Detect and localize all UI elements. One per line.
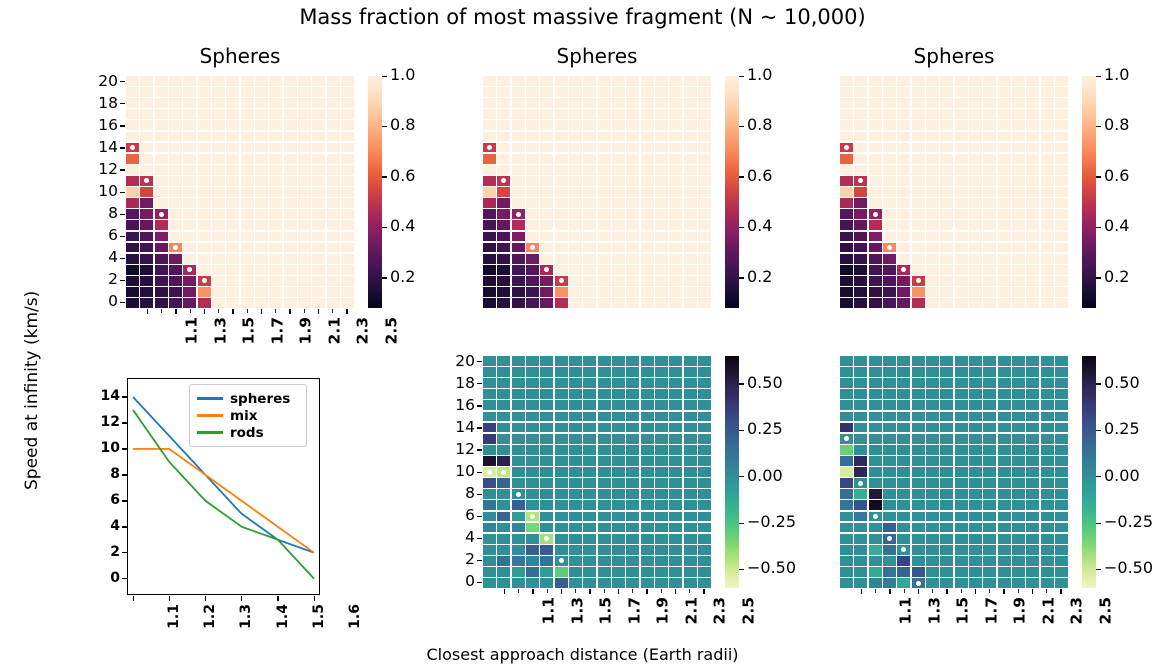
heatmap-cell — [512, 467, 525, 477]
heatmap-cell — [684, 478, 697, 488]
heatmap-cell — [840, 389, 853, 399]
heatmap-cell — [684, 154, 697, 164]
heatmap-cell — [555, 254, 568, 264]
heatmap-cell — [955, 467, 968, 477]
heatmap-cell — [854, 243, 867, 253]
heatmap-cell — [598, 187, 611, 197]
heatmap-cell — [869, 132, 882, 142]
heatmap-cell — [869, 412, 882, 422]
heatmap-cell — [840, 254, 853, 264]
heatmap-cell — [940, 478, 953, 488]
heatmap-cell — [684, 389, 697, 399]
heatmap-cell — [540, 478, 553, 488]
heatmap-cell — [655, 76, 668, 86]
heatmap-cell — [555, 220, 568, 230]
heatmap-cell — [583, 445, 596, 455]
heatmap-cell — [140, 198, 153, 208]
heatmap-cell — [583, 176, 596, 186]
heatmap-cell — [569, 276, 582, 286]
heatmap-cell — [641, 545, 654, 555]
figure-suptitle: Mass fraction of most massive fragment (… — [0, 5, 1165, 29]
colorbar-tick-label: 0.8 — [390, 115, 415, 134]
heatmap-cell — [126, 298, 139, 308]
heatmap-cell — [327, 120, 340, 130]
heatmap-cell — [940, 423, 953, 433]
heatmap-cell — [869, 512, 882, 522]
heatmap-cell — [883, 98, 896, 108]
cell-marker-dot — [487, 470, 492, 475]
heatmap-cell — [897, 276, 910, 286]
heatmap-cell — [497, 165, 510, 175]
heatmap-cell — [1012, 423, 1025, 433]
x-tick-mark-minor — [275, 309, 276, 313]
heatmap-cell — [183, 232, 196, 242]
heatmap-cell — [1055, 243, 1068, 253]
heatmap-cell — [698, 434, 711, 444]
heatmap-cell — [869, 556, 882, 566]
heatmap-cell — [1041, 220, 1054, 230]
heatmap-cell — [669, 567, 682, 577]
heatmap-cell — [226, 132, 239, 142]
heatmap-cell — [540, 367, 553, 377]
x-tick-label: 2.5 — [382, 317, 400, 344]
heatmap-cell — [312, 232, 325, 242]
heatmap-cell — [212, 109, 225, 119]
heatmap-cell — [241, 298, 254, 308]
legend-label: mix — [230, 408, 257, 424]
heatmap-cell — [669, 109, 682, 119]
heatmap-cell — [955, 298, 968, 308]
y-tick-mark — [477, 383, 482, 384]
heatmap-cell — [512, 120, 525, 130]
heatmap-cell — [912, 232, 925, 242]
heatmap-cell — [955, 120, 968, 130]
heatmap-cell — [969, 556, 982, 566]
heatmap-cell — [497, 265, 510, 275]
x-tick-mark — [675, 589, 676, 594]
heatmap-cell — [155, 165, 168, 175]
cell-marker-dot — [844, 145, 849, 150]
heatmap-cell — [1012, 232, 1025, 242]
heatmap-cell — [526, 176, 539, 186]
heatmap-cell — [998, 220, 1011, 230]
heatmap-cell — [840, 467, 853, 477]
y-tick-mark — [477, 494, 482, 495]
heatmap-cell — [255, 265, 268, 275]
heatmap-cell — [1055, 523, 1068, 533]
heatmap-cell — [341, 176, 354, 186]
heatmap-cell — [897, 367, 910, 377]
heatmap-cell — [212, 243, 225, 253]
heatmap-cell — [983, 76, 996, 86]
heatmap-cell — [983, 298, 996, 308]
heatmap-cell — [1012, 534, 1025, 544]
heatmap-cell — [569, 298, 582, 308]
x-tick-mark-minor — [247, 309, 248, 313]
heatmap-cell — [983, 512, 996, 522]
heatmap-cell — [540, 109, 553, 119]
x-tick-label: 2.3 — [711, 597, 729, 624]
heatmap-cell — [284, 220, 297, 230]
heatmap-cell — [569, 545, 582, 555]
heatmap-cell — [298, 76, 311, 86]
heatmap-cell — [698, 512, 711, 522]
heatmap-cell — [698, 109, 711, 119]
heatmap-cell — [655, 356, 668, 366]
heatmap-cell — [1055, 198, 1068, 208]
heatmap-cell — [897, 243, 910, 253]
x-tick-label: 1.9 — [297, 317, 315, 344]
heatmap-cell — [284, 298, 297, 308]
heatmap-cell — [598, 356, 611, 366]
heatmap-cell — [526, 423, 539, 433]
heatmap-cell — [241, 254, 254, 264]
heatmap-cell — [641, 87, 654, 97]
heatmap-cell — [497, 423, 510, 433]
heatmap-cell — [998, 243, 1011, 253]
heatmap-cell — [1041, 98, 1054, 108]
heatmap-cell — [312, 187, 325, 197]
heatmap-cell — [512, 187, 525, 197]
heatmap-cell — [298, 243, 311, 253]
y-tick-label: 6 — [82, 226, 118, 244]
heatmap-cell — [569, 400, 582, 410]
heatmap-cell — [612, 143, 625, 153]
heatmap-cell — [698, 400, 711, 410]
heatmap-cell — [212, 232, 225, 242]
heatmap-cell — [641, 567, 654, 577]
line-y-tick-label: 14 — [87, 388, 120, 404]
heatmap-cell — [155, 254, 168, 264]
heatmap-cell — [1026, 287, 1039, 297]
heatmap-cell — [998, 500, 1011, 510]
heatmap-cell — [684, 578, 697, 588]
cell-marker-dot — [487, 145, 492, 150]
heatmap-cell — [497, 154, 510, 164]
heatmap-cell — [684, 87, 697, 97]
heatmap-cell — [483, 132, 496, 142]
y-tick-label: 10 — [82, 182, 118, 200]
heatmap-cell — [583, 120, 596, 130]
heatmap-cell — [926, 467, 939, 477]
heatmap-cell — [555, 567, 568, 577]
heatmap-cell — [926, 489, 939, 499]
heatmap-cell — [284, 287, 297, 297]
heatmap-cell — [998, 367, 1011, 377]
heatmap-cell — [955, 87, 968, 97]
heatmap-cell — [598, 232, 611, 242]
heatmap-cell — [1055, 187, 1068, 197]
heatmap-cell — [897, 265, 910, 275]
heatmap-cell — [684, 132, 697, 142]
colorbar-tick-mark — [1096, 126, 1101, 127]
heatmap-cell — [241, 220, 254, 230]
heatmap-cell — [1041, 198, 1054, 208]
heatmap-cell — [226, 187, 239, 197]
heatmap-cell — [998, 567, 1011, 577]
x-tick-mark-minor — [604, 589, 605, 593]
heatmap-cell — [327, 143, 340, 153]
heatmap-cell — [569, 220, 582, 230]
cell-marker-dot — [916, 278, 921, 283]
heatmap-cell — [512, 534, 525, 544]
heatmap-cell — [1026, 209, 1039, 219]
heatmap-cell — [598, 143, 611, 153]
y-tick-mark — [477, 560, 482, 561]
heatmap-cell — [569, 412, 582, 422]
heatmap-cell — [854, 154, 867, 164]
heatmap-cell — [1012, 434, 1025, 444]
heatmap-cell — [626, 445, 639, 455]
heatmap-cell — [212, 198, 225, 208]
heatmap-cell — [940, 120, 953, 130]
colorbar-tick-mark — [739, 476, 744, 477]
heatmap-cell — [1055, 132, 1068, 142]
heatmap-cell — [684, 143, 697, 153]
heatmap-cell — [226, 198, 239, 208]
heatmap-cell — [883, 287, 896, 297]
heatmap-cell — [483, 76, 496, 86]
heatmap-cell — [540, 276, 553, 286]
heatmap-cell — [869, 276, 882, 286]
heatmap-cell — [998, 534, 1011, 544]
heatmap-cell — [626, 209, 639, 219]
heatmap-cell — [1041, 378, 1054, 388]
heatmap-cell — [284, 98, 297, 108]
heatmap-cell — [183, 243, 196, 253]
colorbar — [368, 76, 382, 308]
heatmap-cell — [897, 567, 910, 577]
heatmap-cell — [854, 98, 867, 108]
heatmap-cell — [940, 87, 953, 97]
heatmap-cell — [169, 276, 182, 286]
heatmap-cell — [983, 523, 996, 533]
heatmap-cell — [298, 276, 311, 286]
heatmap-cell — [1041, 243, 1054, 253]
heatmap-cell — [926, 198, 939, 208]
heatmap-cell — [140, 176, 153, 186]
y-tick-label: 16 — [439, 396, 475, 414]
heatmap-cell — [555, 98, 568, 108]
heatmap-cell — [655, 87, 668, 97]
heatmap-cell — [897, 500, 910, 510]
heatmap-cell — [998, 176, 1011, 186]
heatmap-cell — [912, 132, 925, 142]
heatmap-cell — [897, 120, 910, 130]
heatmap-cell — [998, 276, 1011, 286]
heatmap-cell — [512, 109, 525, 119]
x-tick-mark-minor — [932, 589, 933, 593]
heatmap-cell — [583, 298, 596, 308]
heatmap-cell — [912, 198, 925, 208]
heatmap-cell — [854, 356, 867, 366]
heatmap-cell — [684, 165, 697, 175]
heatmap-cell — [698, 276, 711, 286]
heatmap-cell — [912, 143, 925, 153]
heatmap-cell — [512, 132, 525, 142]
y-tick-label: 8 — [439, 484, 475, 502]
heatmap-cell — [684, 176, 697, 186]
heatmap-cell — [169, 109, 182, 119]
heatmap-cell — [583, 154, 596, 164]
x-tick-mark — [561, 589, 562, 594]
heatmap-cell — [612, 220, 625, 230]
x-tick-label: 1.1 — [540, 597, 558, 624]
heatmap-cell — [612, 512, 625, 522]
cell-marker-dot — [544, 536, 549, 541]
heatmap-cell — [269, 87, 282, 97]
heatmap-cell — [655, 567, 668, 577]
heatmap-cell — [698, 367, 711, 377]
heatmap-cell — [655, 220, 668, 230]
heatmap-cell — [126, 209, 139, 219]
heatmap-cell — [555, 434, 568, 444]
y-tick-mark — [477, 427, 482, 428]
heatmap-cell — [940, 143, 953, 153]
heatmap-cell — [854, 489, 867, 499]
x-tick-mark-minor — [161, 309, 162, 313]
heatmap-cell — [655, 523, 668, 533]
heatmap-cell — [512, 556, 525, 566]
heatmap-cell — [955, 254, 968, 264]
cell-marker-dot — [916, 581, 921, 586]
heatmap-cell — [1012, 176, 1025, 186]
heatmap-cell — [497, 534, 510, 544]
y-tick-label: 6 — [439, 506, 475, 524]
heatmap-cell — [955, 165, 968, 175]
heatmap-cell — [284, 109, 297, 119]
heatmap-rods-residual — [840, 356, 1068, 588]
heatmap-cell — [341, 287, 354, 297]
y-tick-mark — [477, 538, 482, 539]
heatmap-cell — [483, 500, 496, 510]
colorbar-tick-mark — [739, 76, 744, 77]
heatmap-cell — [612, 276, 625, 286]
heatmap-cell — [983, 456, 996, 466]
heatmap-cell — [598, 378, 611, 388]
heatmap-cell — [669, 445, 682, 455]
heatmap-cell — [883, 389, 896, 399]
heatmap-cell — [483, 209, 496, 219]
x-tick-mark — [946, 589, 947, 594]
heatmap-cell — [1041, 534, 1054, 544]
heatmap-cell — [540, 76, 553, 86]
heatmap-cell — [612, 534, 625, 544]
heatmap-cell — [241, 265, 254, 275]
heatmap-cell — [883, 545, 896, 555]
heatmap-cell — [1026, 87, 1039, 97]
heatmap-cell — [912, 545, 925, 555]
heatmap-cell — [126, 120, 139, 130]
line-y-tick-mark — [122, 500, 127, 501]
y-tick-label: 20 — [439, 352, 475, 370]
heatmap-cell — [669, 456, 682, 466]
heatmap-cell — [926, 500, 939, 510]
heatmap-cell — [1026, 232, 1039, 242]
heatmap-cell — [284, 276, 297, 286]
heatmap-cell — [583, 400, 596, 410]
heatmap-cell — [1041, 76, 1054, 86]
heatmap-cell — [598, 254, 611, 264]
heatmap-cell — [641, 478, 654, 488]
heatmap-cell — [483, 523, 496, 533]
heatmap-cell — [298, 87, 311, 97]
heatmap-cell — [526, 356, 539, 366]
heatmap-cell — [955, 287, 968, 297]
heatmap-cell — [883, 198, 896, 208]
x-tick-label: 1.5 — [954, 597, 972, 624]
heatmap-cell — [983, 165, 996, 175]
x-tick-mark-minor — [1018, 589, 1019, 593]
heatmap-cell — [897, 98, 910, 108]
heatmap-cell — [940, 545, 953, 555]
heatmap-cell — [1041, 400, 1054, 410]
heatmap-cell — [641, 232, 654, 242]
legend-line-swatch — [197, 414, 223, 416]
heatmap-cell — [155, 154, 168, 164]
heatmap-cell — [1041, 298, 1054, 308]
heatmap-cell — [327, 298, 340, 308]
heatmap-cell — [241, 198, 254, 208]
heatmap-cell — [341, 232, 354, 242]
heatmap-cell — [969, 109, 982, 119]
heatmap-cell — [526, 143, 539, 153]
heatmap-cell — [183, 176, 196, 186]
heatmap-cell — [998, 556, 1011, 566]
heatmap-cell — [569, 378, 582, 388]
heatmap-cell — [641, 154, 654, 164]
heatmap-cell — [612, 254, 625, 264]
heatmap-cell — [1026, 298, 1039, 308]
heatmap-cell — [497, 467, 510, 477]
heatmap-cell — [298, 209, 311, 219]
heatmap-cell — [540, 243, 553, 253]
cell-marker-dot — [130, 145, 135, 150]
y-tick-label: 14 — [82, 138, 118, 156]
heatmap-cell — [555, 500, 568, 510]
heatmap-cell — [583, 534, 596, 544]
heatmap-cell — [854, 389, 867, 399]
heatmap-cell — [883, 556, 896, 566]
heatmap-cell — [883, 209, 896, 219]
heatmap-cell — [684, 209, 697, 219]
heatmap-cell — [983, 445, 996, 455]
legend-label: rods — [230, 425, 264, 441]
heatmap-cell — [1055, 467, 1068, 477]
heatmap-cell — [540, 545, 553, 555]
heatmap-cell — [1012, 578, 1025, 588]
heatmap-cell — [512, 254, 525, 264]
heatmap-cell — [698, 467, 711, 477]
heatmap-cell — [612, 478, 625, 488]
heatmap-cell — [854, 500, 867, 510]
heatmap-cell — [583, 456, 596, 466]
heatmap-cell — [684, 367, 697, 377]
heatmap-cell — [840, 298, 853, 308]
x-tick-mark — [261, 309, 262, 314]
heatmap-cell — [969, 132, 982, 142]
heatmap-cell — [569, 120, 582, 130]
heatmap-cell — [512, 434, 525, 444]
heatmap-cell — [269, 165, 282, 175]
heatmap-cell — [540, 556, 553, 566]
heatmap-cell — [983, 154, 996, 164]
heatmap-cell — [1055, 456, 1068, 466]
heatmap-cell — [1012, 445, 1025, 455]
heatmap-cell — [540, 98, 553, 108]
heatmap-cell — [840, 98, 853, 108]
heatmap-cell — [569, 87, 582, 97]
